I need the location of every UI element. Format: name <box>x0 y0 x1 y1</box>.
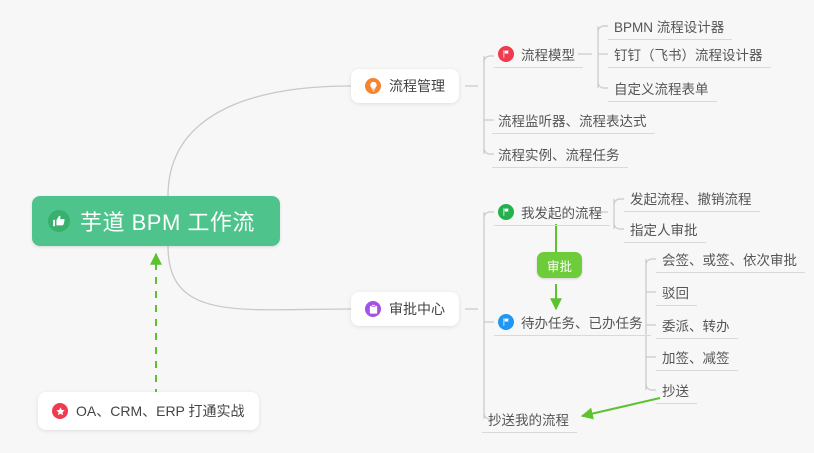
node-todo-done-tasks[interactable]: 待办任务、已办任务 <box>494 308 651 336</box>
node-instance-task[interactable]: 流程实例、流程任务 <box>492 140 628 168</box>
edge-todo-to-cc <box>646 384 656 390</box>
node-instance-task-label: 流程实例、流程任务 <box>498 144 620 164</box>
node-cc-label: 抄送 <box>662 380 689 400</box>
edge-initiated-to-start <box>614 199 624 205</box>
node-start-cancel-process-label: 发起流程、撤销流程 <box>630 188 752 208</box>
flag-icon <box>498 46 514 62</box>
edge-initiated-to-assignee <box>614 223 624 229</box>
root-node[interactable]: 芋道 BPM 工作流 <box>32 196 280 246</box>
edge-model-to-customform <box>598 82 608 88</box>
node-countersign-or-sequential-label: 会签、或签、依次审批 <box>662 249 797 269</box>
edge-model-to-bpmn <box>598 26 608 32</box>
branch-process-management[interactable]: 流程管理 <box>351 69 459 103</box>
node-add-remove-sign[interactable]: 加签、减签 <box>656 343 738 371</box>
node-todo-done-tasks-label: 待办任务、已办任务 <box>521 312 643 332</box>
branch-approval-center[interactable]: 审批中心 <box>351 292 459 326</box>
node-delegate-transfer[interactable]: 委派、转办 <box>656 311 738 339</box>
approval-badge-label: 审批 <box>547 256 572 275</box>
node-start-cancel-process[interactable]: 发起流程、撤销流程 <box>624 184 760 212</box>
edge-todo-to-countersign <box>646 259 656 265</box>
node-cc-to-me-label: 抄送我的流程 <box>488 409 569 429</box>
mindmap-canvas: 芋道 BPM 工作流 流程管理 流程模型 BPMN 流程设计器 钉钉（飞书）流程… <box>0 0 814 453</box>
node-dingtalk-feishu-designer-label: 钉钉（飞书）流程设计器 <box>614 44 763 64</box>
node-delegate-transfer-label: 委派、转办 <box>662 315 730 335</box>
node-cc[interactable]: 抄送 <box>656 376 697 404</box>
node-my-initiated-label: 我发起的流程 <box>521 202 602 222</box>
node-custom-process-form[interactable]: 自定义流程表单 <box>608 74 717 102</box>
node-listener-expression[interactable]: 流程监听器、流程表达式 <box>492 106 655 134</box>
floating-node-integration-practice[interactable]: OA、CRM、ERP 打通实战 <box>38 392 259 430</box>
node-assignee-approval[interactable]: 指定人审批 <box>624 215 706 243</box>
thumbs-up-icon <box>48 210 70 232</box>
clipboard-icon <box>365 301 381 317</box>
node-reject-label: 驳回 <box>662 282 689 302</box>
node-custom-process-form-label: 自定义流程表单 <box>614 78 709 98</box>
node-bpmn-designer[interactable]: BPMN 流程设计器 <box>608 12 732 40</box>
node-process-model[interactable]: 流程模型 <box>494 40 583 68</box>
star-icon <box>52 403 68 419</box>
node-my-initiated[interactable]: 我发起的流程 <box>494 198 610 226</box>
root-label: 芋道 BPM 工作流 <box>80 205 255 237</box>
node-add-remove-sign-label: 加签、减签 <box>662 347 730 367</box>
node-dingtalk-feishu-designer[interactable]: 钉钉（飞书）流程设计器 <box>608 40 771 68</box>
branch-approval-center-label: 审批中心 <box>389 299 445 319</box>
arrow-cc-to-ccme <box>582 398 660 416</box>
flag-icon <box>498 314 514 330</box>
node-process-model-label: 流程模型 <box>521 44 575 64</box>
branch-process-management-label: 流程管理 <box>389 76 445 96</box>
node-cc-to-me[interactable]: 抄送我的流程 <box>482 405 577 433</box>
edge-root-to-approval-center <box>168 246 351 310</box>
floating-node-integration-practice-label: OA、CRM、ERP 打通实战 <box>76 401 245 421</box>
node-assignee-approval-label: 指定人审批 <box>630 219 698 239</box>
edge-root-to-process-management <box>168 86 351 196</box>
node-reject[interactable]: 驳回 <box>656 278 697 306</box>
lightbulb-icon <box>365 78 381 94</box>
approval-badge[interactable]: 审批 <box>537 252 582 278</box>
node-countersign-or-sequential[interactable]: 会签、或签、依次审批 <box>656 245 805 273</box>
node-bpmn-designer-label: BPMN 流程设计器 <box>614 16 724 36</box>
edge-ac-to-initiated <box>484 212 494 218</box>
flag-icon <box>498 204 514 220</box>
node-listener-expression-label: 流程监听器、流程表达式 <box>498 110 647 130</box>
edge-pm-to-model <box>484 56 494 62</box>
